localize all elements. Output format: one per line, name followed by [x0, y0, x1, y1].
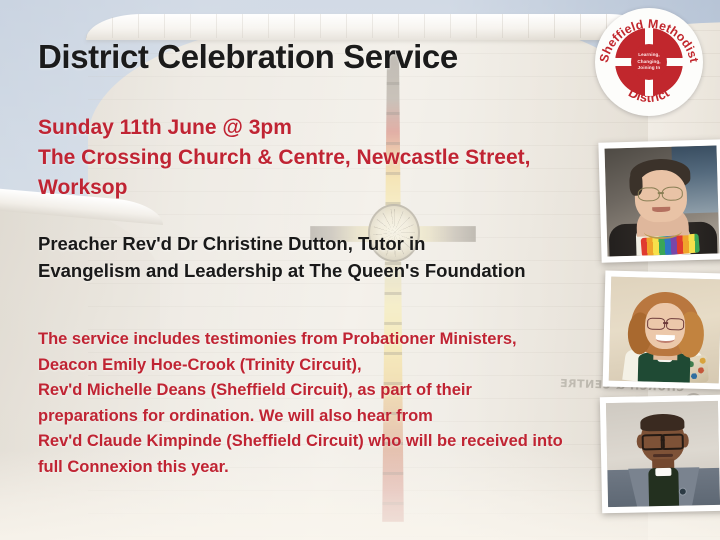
preacher-block: Preacher Rev'd Dr Christine Dutton, Tuto… [38, 230, 526, 284]
preacher-line-2: Evangelism and Leadership at The Queen's… [38, 257, 526, 284]
logo-strapline-line-1: Learning, [638, 52, 660, 59]
detail-line-1: The service includes testimonies from Pr… [38, 327, 563, 353]
detail-line-6: full Connexion this year. [38, 455, 563, 481]
logo-strapline-line-3: Joining In [638, 65, 661, 72]
portrait-photo-revd-claude-kimpinde [600, 395, 720, 514]
portrait-photo-deacon-emily-hoe-crook [598, 139, 720, 262]
event-venue-line-2: Worksop [38, 173, 530, 203]
detail-line-2: Deacon Emily Hoe-Crook (Trinity Circuit)… [38, 353, 563, 379]
logo-strapline-line-2: Changing, [637, 59, 660, 66]
detail-line-3: Rev'd Michelle Deans (Sheffield Circuit)… [38, 378, 563, 404]
event-venue-line-1: The Crossing Church & Centre, Newcastle … [38, 143, 530, 173]
portrait-1-glasses [638, 186, 683, 199]
portrait-3-glasses [641, 434, 684, 446]
portrait-photo-revd-michelle-deans [603, 271, 720, 390]
event-when-where: Sunday 11th June @ 3pm The Crossing Chur… [38, 113, 530, 202]
service-details-block: The service includes testimonies from Pr… [38, 327, 563, 480]
detail-line-5: Rev'd Claude Kimpinde (Sheffield Circuit… [38, 429, 563, 455]
portrait-2-glasses [647, 317, 684, 328]
event-datetime: Sunday 11th June @ 3pm [38, 113, 530, 143]
sheffield-methodist-district-logo: Sheffield Methodist District Learning, C… [595, 8, 703, 116]
poster-canvas: PIus CHURCH & CENTRE District Celebratio… [0, 0, 720, 540]
portrait-3-mouth [653, 454, 673, 458]
portrait-image-3 [606, 401, 720, 507]
portrait-3-clerical-collar [655, 467, 671, 476]
page-title: District Celebration Service [38, 38, 458, 76]
portrait-3-hair [640, 414, 685, 432]
logo-strapline: Learning, Changing, Joining In [631, 44, 667, 80]
preacher-line-1: Preacher Rev'd Dr Christine Dutton, Tuto… [38, 230, 526, 257]
portrait-image-2 [609, 277, 720, 384]
portrait-image-1 [605, 145, 720, 256]
detail-line-4: preparations for ordination. We will als… [38, 404, 563, 430]
